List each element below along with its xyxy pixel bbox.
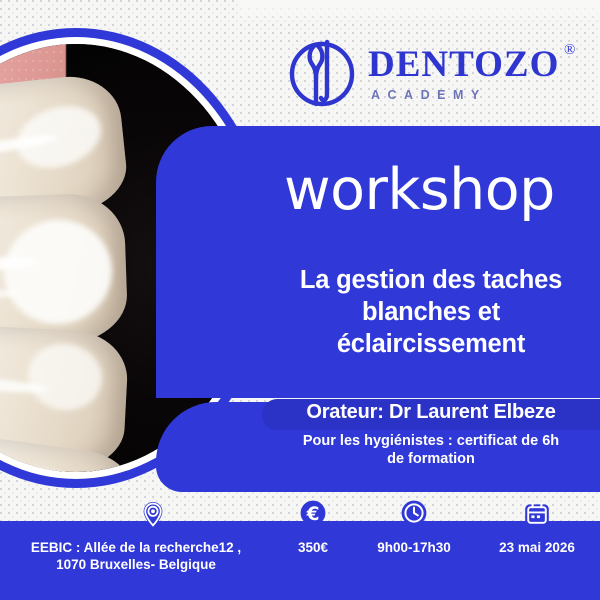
registered-mark: ® [564, 43, 576, 58]
footer-label-time: 9h00-17h30 [354, 540, 474, 557]
speaker-note: Pour les hygiénistes : certificat de 6h … [262, 432, 600, 468]
brand-name: DENTOZO® [368, 46, 559, 83]
workshop-subject: La gestion des taches blanches et éclair… [262, 264, 600, 360]
footer-label-location: EEBIC : Allée de la recherche12 , 1070 B… [0, 540, 272, 574]
workshop-poster: DENTOZO® ACADEMY workshop La gestion des… [0, 0, 600, 600]
footer-info-row: EEBIC : Allée de la recherche12 , 1070 B… [0, 500, 600, 600]
footer-item-time: 9h00-17h30 [354, 500, 474, 557]
brand-wordmark: DENTOZO® ACADEMY [368, 46, 559, 102]
dentozo-tooth-d-mark-icon [286, 38, 358, 110]
footer-label-price: 350€ [272, 540, 354, 557]
background-top-wash [240, 0, 600, 26]
footer-item-date: 23 mai 2026 [474, 500, 600, 557]
calendar-icon [522, 500, 552, 530]
brand-tagline: ACADEMY [371, 88, 559, 102]
brand-name-text: DENTOZO [368, 44, 559, 85]
footer-label-date: 23 mai 2026 [474, 540, 600, 557]
clock-icon [399, 500, 429, 530]
footer-item-price: € 350€ [272, 500, 354, 557]
speaker-name: Orateur: Dr Laurent Elbeze [262, 401, 600, 424]
workshop-kicker: workshop [284, 162, 555, 219]
footer-item-location: EEBIC : Allée de la recherche12 , 1070 B… [0, 500, 272, 574]
location-pin-icon [138, 500, 168, 530]
euro-icon: € [298, 500, 328, 530]
brand-logo: DENTOZO® ACADEMY [286, 34, 558, 114]
svg-text:€: € [306, 504, 320, 525]
